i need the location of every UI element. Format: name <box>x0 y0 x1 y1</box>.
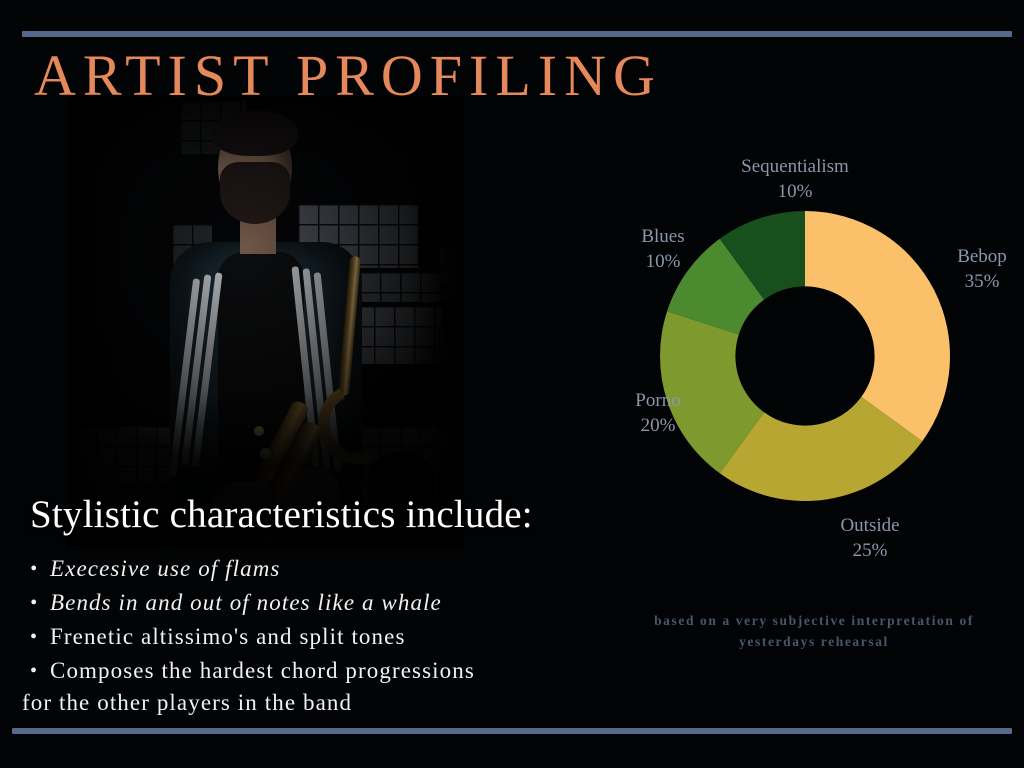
chart-label-bebop: Bebop 35% <box>920 244 1024 294</box>
photo-backdrop <box>68 96 464 548</box>
chart-label-porno: Porno 20% <box>585 388 731 438</box>
chart-label-name: Bebop <box>957 246 1007 267</box>
photo-vignette <box>68 96 464 548</box>
bottom-divider-rule <box>12 728 1012 734</box>
chart-label-blues: Blues 10% <box>590 224 736 274</box>
top-divider-rule <box>22 31 1012 37</box>
chart-label-value: 10% <box>590 249 736 274</box>
chart-label-name: Blues <box>641 226 684 247</box>
chart-label-value: 20% <box>585 413 731 438</box>
list-item-continuation: for the other players in the band <box>22 690 352 716</box>
list-item: Composes the hardest chord progressions <box>22 654 632 688</box>
chart-label-outside: Outside 25% <box>790 513 950 563</box>
list-item: Bends in and out of notes like a whale <box>22 586 632 620</box>
list-item: Frenetic altissimo's and split tones <box>22 620 632 654</box>
saxophonist-photo <box>68 96 464 548</box>
footnote-disclaimer: based on a very subjective interpretatio… <box>632 610 996 652</box>
chart-label-sequentialism: Sequentialism 10% <box>660 154 930 204</box>
list-item: Execesive use of flams <box>22 552 632 586</box>
subheading: Stylistic characteristics include: <box>30 492 533 537</box>
chart-label-name: Sequentialism <box>741 156 849 177</box>
characteristics-list: Execesive use of flams Bends in and out … <box>22 552 632 688</box>
slide-canvas: ARTIST PROFILING <box>0 0 1024 768</box>
chart-label-value: 10% <box>660 179 930 204</box>
chart-label-value: 25% <box>790 538 950 563</box>
genre-donut-chart: Sequentialism 10% Blues 10% Porno 20% Ou… <box>600 148 1024 568</box>
chart-label-name: Porno <box>635 390 680 411</box>
chart-label-value: 35% <box>920 269 1024 294</box>
chart-label-name: Outside <box>840 515 899 536</box>
